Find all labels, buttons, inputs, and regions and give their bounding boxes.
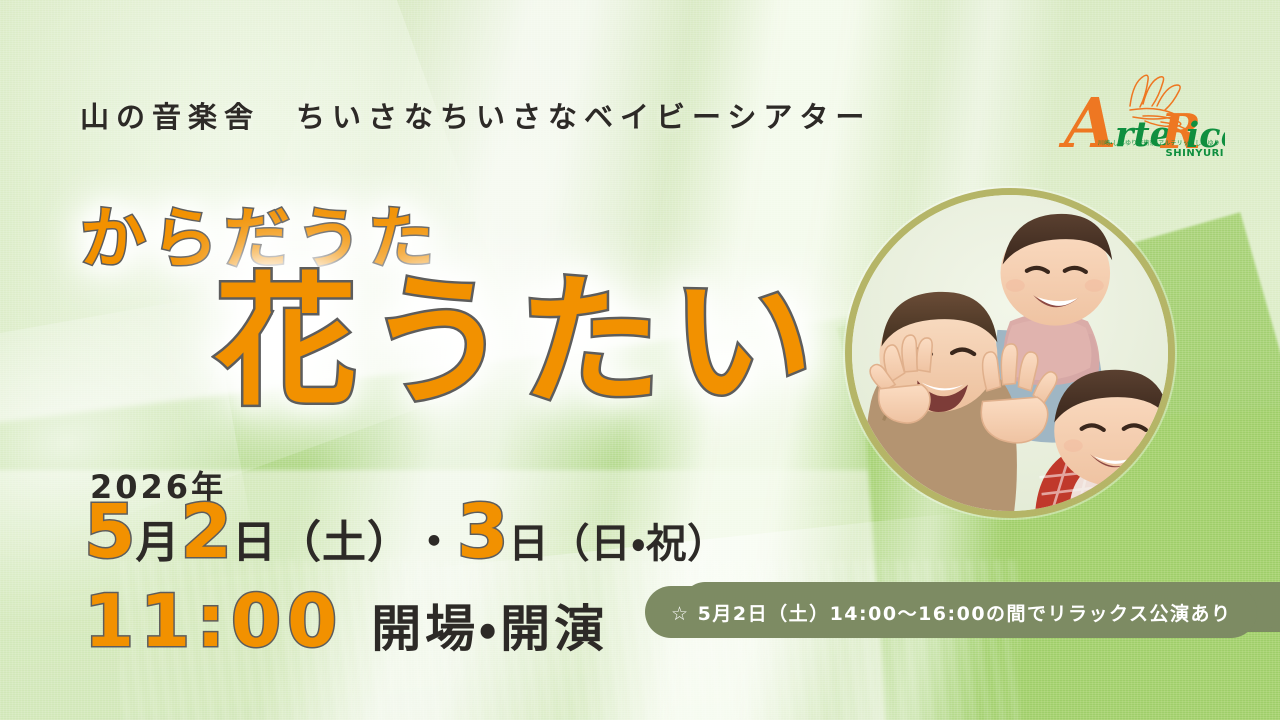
babies-photo-illustration [852, 195, 1168, 511]
eyebrow-text: 山の音楽舎 ちいさなちいさなベイビーシアター [80, 94, 871, 136]
logo-subtitle: 川崎・しんゆり芸術祭 アルテリッカしんゆり [1070, 138, 1220, 147]
date-line: 5 月 2 日（土） ・ 3 日（日・祝） [84, 495, 728, 569]
arte-ricca-logo[interactable]: A rte R icca SHINYURI [1055, 58, 1225, 163]
day2-suffix: 日（日・祝） [509, 524, 729, 564]
month-kanji: 月 [136, 521, 181, 565]
svg-text:A: A [1058, 84, 1117, 163]
day1-suffix: 日（土） [232, 521, 412, 565]
svg-text:SHINYURI: SHINYURI [1166, 148, 1224, 159]
day1-number: 2 [181, 495, 233, 569]
time-label: 開場・開演 [371, 604, 608, 654]
time-line: 11:00 開場・開演 [84, 585, 608, 657]
day2-number: 3 [457, 495, 509, 569]
page-title-hanautai: 花うたい [215, 272, 823, 414]
arte-ricca-logo-mark: A rte R icca SHINYURI [1055, 58, 1225, 163]
relax-performance-banner: ☆ 5月2日（土）14:00〜16:00の間でリラックス公演あり [645, 586, 1257, 638]
babies-photo [845, 188, 1175, 518]
poster-canvas: 山の音楽舎 ちいさなちいさなベイビーシアター からだうた 花うたい 2026年 … [0, 0, 1280, 720]
date-separator: ・ [412, 521, 457, 565]
start-time: 11:00 [84, 585, 343, 657]
relax-banner-text: ☆ 5月2日（土）14:00〜16:00の間でリラックス公演あり [671, 599, 1231, 626]
month-number: 5 [84, 495, 136, 569]
